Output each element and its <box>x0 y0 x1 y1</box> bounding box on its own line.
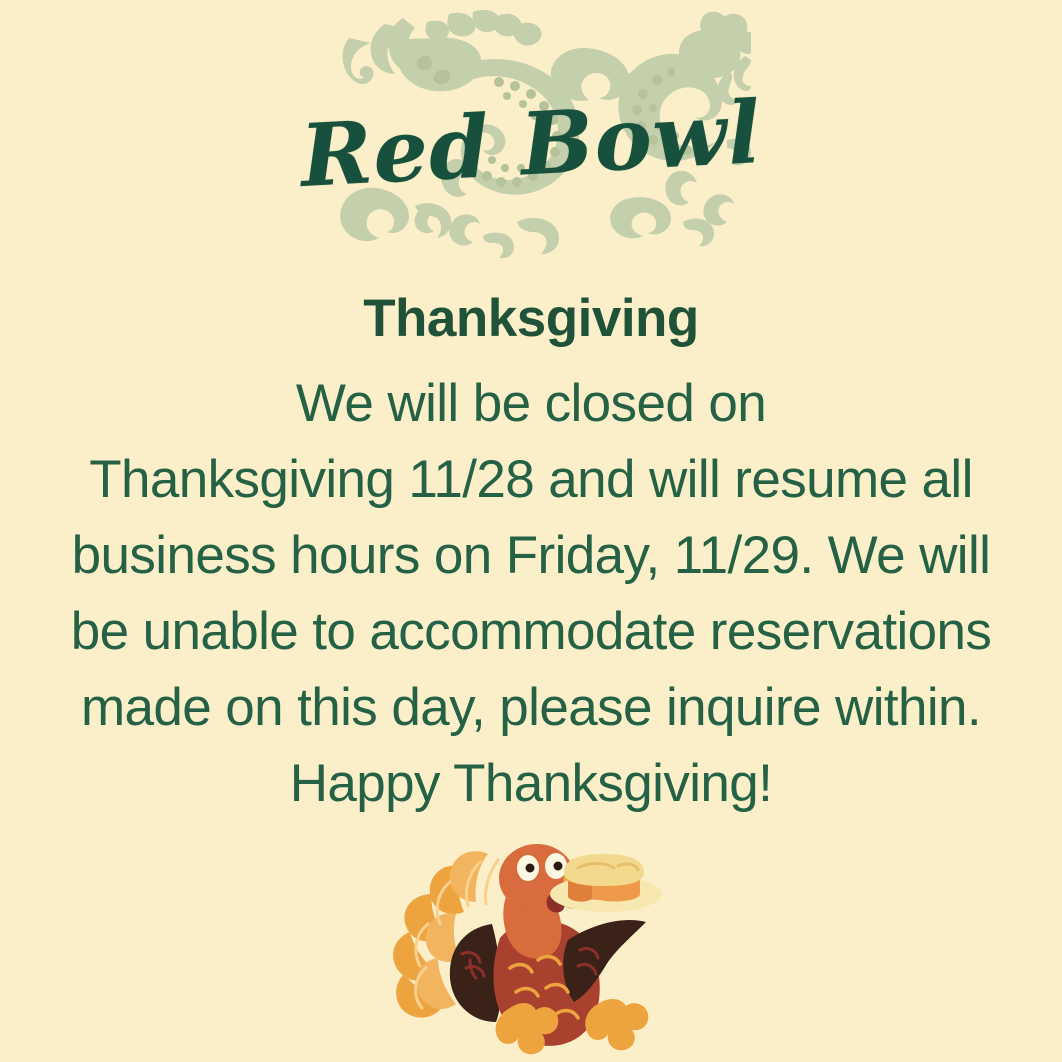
turkey-foot-right <box>585 999 648 1050</box>
pie-crust <box>564 854 644 886</box>
announcement-line: Thanksgiving 11/28 and will resume all <box>18 442 1044 518</box>
page-title: Thanksgiving <box>0 291 1062 347</box>
announcement-line: made on this day, please inquire within. <box>18 670 1044 746</box>
turkey-with-pie-icon <box>392 832 684 1060</box>
turkey-left-wing <box>450 924 501 1022</box>
brand-wordmark: Red Bowl <box>0 74 1062 215</box>
announcement-body: We will be closed on Thanksgiving 11/28 … <box>0 366 1062 822</box>
announcement-line: be unable to accommodate reservations <box>18 594 1044 670</box>
announcement-line: business hours on Friday, 11/29. We will <box>18 518 1044 594</box>
thanksgiving-announcement-poster: Red Bowl Thanksgiving We will be closed … <box>0 0 1062 1062</box>
brand-logo-block: Red Bowl <box>0 10 1062 280</box>
announcement-line: We will be closed on <box>18 366 1044 442</box>
announcement-line: Happy Thanksgiving! <box>18 746 1044 822</box>
